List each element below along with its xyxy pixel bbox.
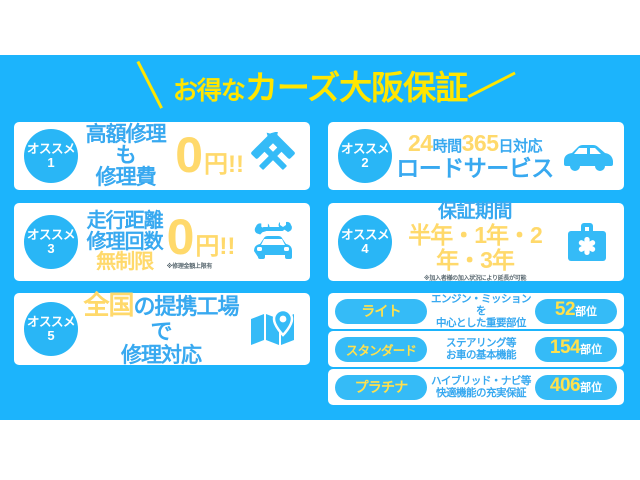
title-slash-right: ／	[466, 62, 516, 112]
feature-card-4: オススメ 4 保証期間 半年・1年・2年・3年 ※加入者様の加入状況により延長が…	[328, 203, 624, 281]
badge-label: オススメ	[27, 143, 75, 156]
feature-3-line1: 走行距離	[87, 211, 163, 232]
feature-1-line2: 修理費	[78, 167, 173, 188]
recommend-badge-3: オススメ 3	[24, 215, 78, 269]
feature-3-text: 走行距離 修理回数 無制限	[87, 211, 163, 273]
badge-label: オススメ	[341, 229, 389, 242]
feature-2-text: 24時間365日対応 ロードサービス	[396, 131, 554, 181]
medical-briefcase-icon	[558, 220, 616, 264]
plan-count-unit: 部位	[575, 303, 597, 319]
recommend-badge-4: オススメ 4	[338, 215, 392, 269]
badge-number: 4	[361, 242, 368, 256]
plan-desc-line2: お車の基本機能	[430, 349, 532, 361]
plan-count-pill: 52 部位	[535, 299, 617, 324]
recommend-badge-1: オススメ 1	[24, 129, 78, 183]
feature-5-line2: 修理対応	[78, 344, 244, 367]
feature-4-note: ※加入者様の加入状況により延長が可能	[392, 276, 558, 283]
feature-4-line2: 半年・1年・2年・3年	[392, 223, 558, 275]
recommend-badge-2: オススメ 2	[338, 129, 392, 183]
plan-row-light[interactable]: ライト エンジン・ミッションを 中心とした重要部位 52 部位	[328, 293, 624, 329]
feature-3-amount-number: 0	[167, 215, 195, 259]
feature-3-amount-unit: 円!!	[195, 226, 235, 261]
feature-card-3: オススメ 3 走行距離 修理回数 無制限 0 円!! ※修理金額上限有	[14, 203, 310, 281]
badge-number: 5	[47, 329, 54, 343]
feature-4-text: 保証期間 半年・1年・2年・3年 ※加入者様の加入状況により延長が可能	[392, 201, 558, 282]
feature-5-highlight: 全国	[83, 290, 133, 320]
plan-row-platinum[interactable]: プラチナ ハイブリッド・ナビ等 快適機能の充実保証 406 部位	[328, 369, 624, 405]
plan-desc-line1: ステアリング等	[430, 337, 532, 349]
car-side-icon	[558, 139, 616, 173]
plan-description: ステアリング等 お車の基本機能	[427, 337, 535, 361]
title-main: カーズ大阪保証	[245, 69, 467, 106]
map-pin-icon	[244, 307, 302, 351]
plan-desc-line2: 快適機能の充実保証	[430, 387, 532, 399]
feature-1-line1: 高額修理も	[78, 124, 173, 167]
plan-description: ハイブリッド・ナビ等 快適機能の充実保証	[427, 375, 535, 399]
feature-2-hours-unit: 時間	[433, 138, 462, 155]
title-slash-left: ＼	[124, 62, 174, 112]
feature-1-amount: 0 円!!	[175, 133, 244, 179]
feature-card-2: オススメ 2 24時間365日対応 ロードサービス	[328, 122, 624, 190]
feature-2-line1: 24時間365日対応	[396, 131, 554, 157]
plan-desc-line1: エンジン・ミッションを	[430, 293, 532, 317]
badge-label: オススメ	[27, 229, 75, 242]
badge-number: 2	[361, 156, 368, 170]
feature-5-text: 全国の提携工場で 修理対応	[78, 291, 244, 367]
plan-count-pill: 406 部位	[535, 375, 617, 400]
plan-desc-line1: ハイブリッド・ナビ等	[430, 375, 532, 387]
feature-3-line2: 修理回数	[87, 232, 163, 253]
car-wrench-icon	[244, 217, 302, 267]
feature-5-line1: 全国の提携工場で	[78, 291, 244, 344]
advertisement-banner: ＼ お得なカーズ大阪保証 ／ オススメ 1 高額修理も 修理費 0 円!!	[0, 0, 640, 480]
feature-4-line1: 保証期間	[392, 201, 558, 222]
banner-title: ＼ お得なカーズ大阪保証 ／	[0, 62, 640, 112]
feature-2-days-unit: 日対応	[498, 138, 542, 155]
feature-3-line3: 無制限	[87, 252, 163, 273]
feature-2-hours: 24	[408, 130, 433, 156]
title-prefix: お得な	[173, 77, 245, 105]
recommend-badge-5: オススメ 5	[24, 302, 78, 356]
feature-1-text: 高額修理も 修理費	[78, 124, 173, 188]
badge-label: オススメ	[341, 143, 389, 156]
badge-number: 3	[47, 242, 54, 256]
plan-count-number: 154	[550, 337, 580, 359]
crossed-hammers-icon	[244, 132, 302, 180]
plan-name-pill: スタンダード	[335, 337, 427, 362]
plan-count-pill: 154 部位	[535, 337, 617, 362]
badge-label: オススメ	[27, 316, 75, 329]
plan-count-unit: 部位	[580, 341, 602, 357]
plan-name-pill: プラチナ	[335, 375, 427, 400]
feature-1-amount-number: 0	[175, 133, 203, 178]
plan-count-unit: 部位	[580, 379, 602, 395]
feature-card-5: オススメ 5 全国の提携工場で 修理対応	[14, 293, 310, 365]
feature-2-line2: ロードサービス	[396, 156, 554, 181]
page-title: お得なカーズ大阪保証	[173, 71, 467, 104]
feature-1-amount-unit: 円!!	[204, 144, 244, 179]
plan-count-number: 406	[550, 375, 580, 397]
plan-name-pill: ライト	[335, 299, 427, 324]
feature-2-days: 365	[462, 130, 499, 156]
plan-row-standard[interactable]: スタンダード ステアリング等 お車の基本機能 154 部位	[328, 331, 624, 367]
plan-count-number: 52	[555, 299, 575, 321]
feature-card-1: オススメ 1 高額修理も 修理費 0 円!!	[14, 122, 310, 190]
feature-5-line1-rest: の提携工場で	[134, 294, 239, 344]
badge-number: 1	[47, 156, 54, 170]
plan-description: エンジン・ミッションを 中心とした重要部位	[427, 293, 535, 329]
plan-desc-line2: 中心とした重要部位	[430, 317, 532, 329]
feature-3-note: ※修理金額上限有	[167, 261, 212, 270]
feature-3-amount: 0 円!! ※修理金額上限有	[167, 215, 236, 270]
